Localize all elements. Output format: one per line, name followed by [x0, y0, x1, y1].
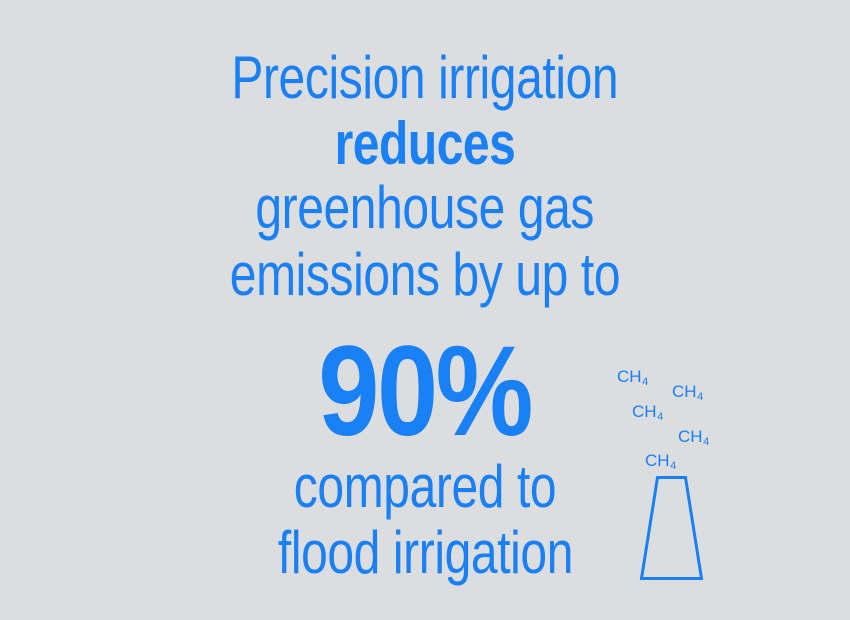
- methane-molecule-label-5: CH4: [645, 452, 676, 469]
- headline-statistic-text: 90%: [319, 328, 532, 456]
- methane-subscript-5: 4: [670, 460, 676, 472]
- methane-emission-graphic: CH4 CH4 CH4 CH4 CH4: [600, 355, 740, 590]
- statement-line-2-emphasis: reduces: [0, 114, 850, 174]
- statement-line-5-text: compared to: [294, 457, 556, 517]
- methane-subscript-3: 4: [657, 411, 663, 423]
- smokestack-icon: [638, 475, 704, 581]
- methane-formula-4: CH: [678, 427, 703, 446]
- statement-line-1: Precision irrigation: [0, 48, 850, 108]
- methane-formula-2: CH: [672, 382, 697, 401]
- statement-line-4-text: emissions by up to: [230, 245, 620, 305]
- statement-line-3-text: greenhouse gas: [256, 178, 595, 238]
- statement-line-3: greenhouse gas: [0, 178, 850, 238]
- methane-molecule-label-1: CH4: [617, 368, 648, 385]
- methane-formula-5: CH: [645, 451, 670, 470]
- methane-subscript-2: 4: [697, 391, 703, 403]
- statement-line-1-text: Precision irrigation: [232, 48, 619, 108]
- methane-molecule-label-4: CH4: [678, 428, 709, 445]
- methane-molecule-label-2: CH4: [672, 383, 703, 400]
- methane-subscript-4: 4: [703, 436, 709, 448]
- methane-formula-3: CH: [632, 402, 657, 421]
- methane-formula-1: CH: [617, 367, 642, 386]
- infographic-canvas: Precision irrigation reduces greenhouse …: [0, 0, 850, 620]
- methane-subscript-1: 4: [642, 376, 648, 388]
- methane-molecule-label-3: CH4: [632, 403, 663, 420]
- statement-line-2-text: reduces: [335, 114, 516, 174]
- statement-line-4: emissions by up to: [0, 245, 850, 305]
- statement-line-6-text: flood irrigation: [277, 523, 572, 583]
